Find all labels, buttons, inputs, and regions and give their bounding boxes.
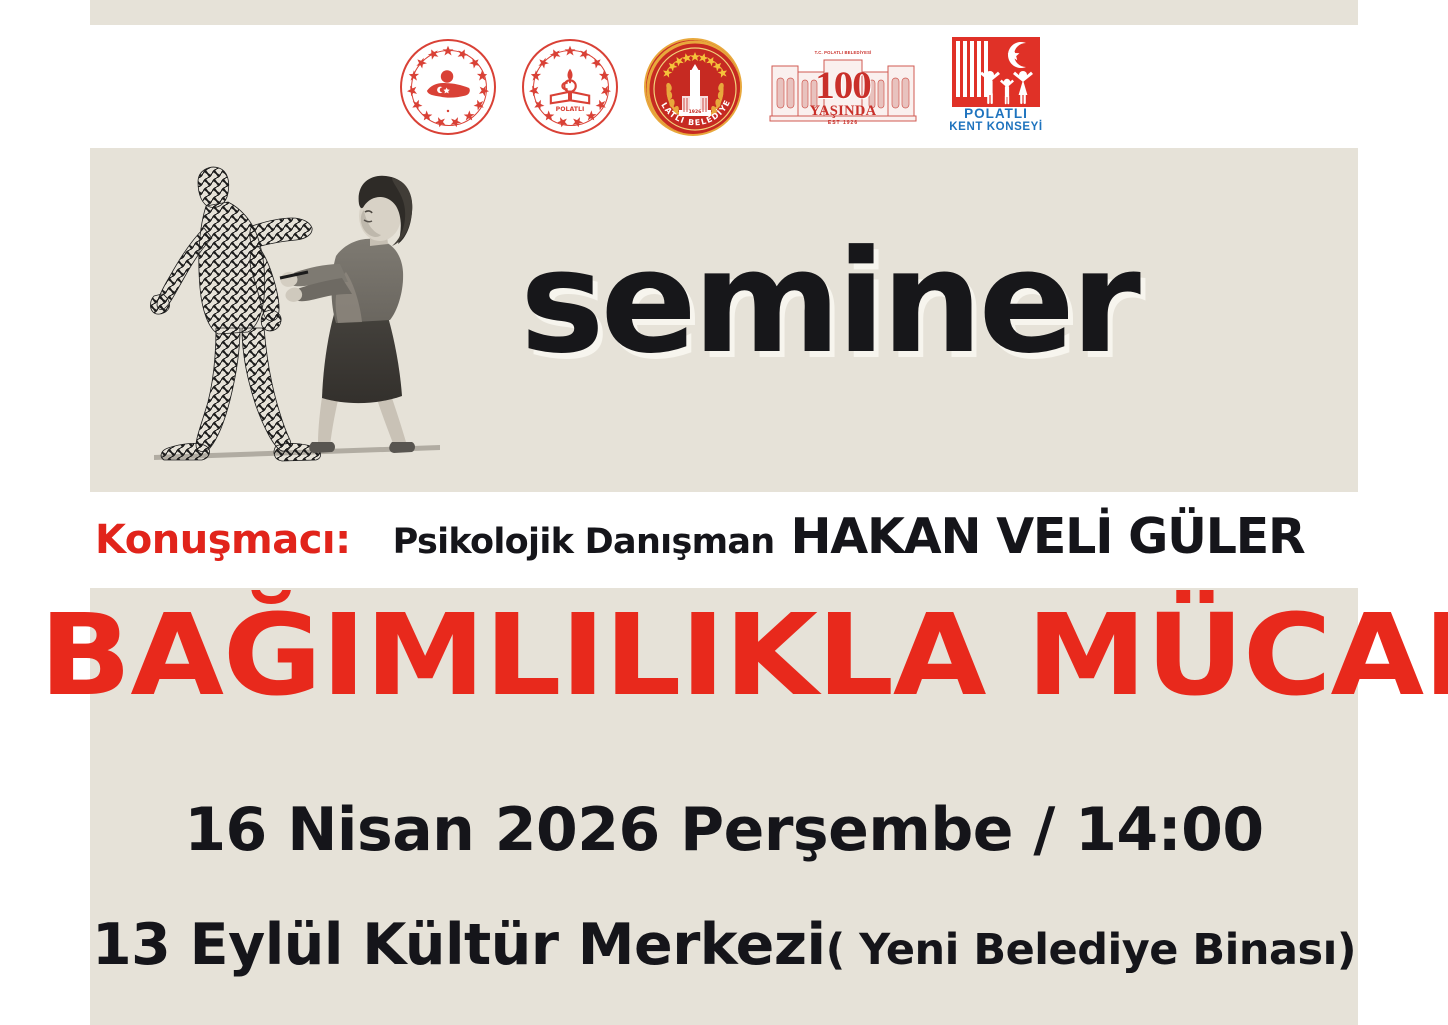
- milli-egitim-bakanligi-seal-logo: POLATLI: [522, 39, 618, 135]
- seminer-headline-wrap: seminer: [520, 232, 1220, 382]
- addiction-pull-illustration-icon: [140, 160, 470, 480]
- speaker-row: Konuşmacı: Psikolojik Danışman HAKAN VEL…: [95, 508, 1365, 576]
- kent-konseyi-line2: KENT KONSEYİ: [944, 121, 1048, 133]
- meb-seal-inner-ring: [533, 50, 609, 126]
- speaker-role: Psikolojik Danışman: [393, 522, 775, 562]
- kent-konseyi-label: POLATLI KENT KONSEYİ: [944, 107, 1048, 133]
- belediye-100-top-label: T.C. POLATLI BELEDİYESİ: [768, 50, 918, 56]
- logo-strip: POLATLI: [90, 28, 1358, 146]
- belediye-100-est: EST 1926: [768, 120, 918, 126]
- seminer-headline: seminer: [520, 232, 1220, 374]
- seal-inner-ring: [411, 50, 487, 126]
- polatli-kaymakamligi-seal-logo: [400, 39, 496, 135]
- belediye-100-number: 100: [768, 68, 918, 104]
- belediye-100-word: YAŞINDA: [768, 103, 918, 120]
- kaymakamlik-seal-icon: [400, 39, 496, 135]
- speaker-name: HAKAN VELİ GÜLER: [791, 508, 1305, 565]
- meb-seal-icon: POLATLI: [522, 39, 618, 135]
- polatli-belediyesi-seal-logo: 1926 POLATLI BELEDİYESİ: [644, 38, 742, 136]
- crescent-star-and-people-icon: [952, 37, 1040, 107]
- panel-top-band: [90, 0, 1358, 25]
- kent-konseyi-line1: POLATLI: [944, 107, 1048, 121]
- event-venue-sub: ( Yeni Belediye Binası): [826, 925, 1356, 975]
- polatli-belediyesi-100-yasinda-logo: T.C. POLATLI BELEDİYESİ 100 YAŞINDA EST …: [768, 44, 918, 130]
- svg-text:1926: 1926: [689, 109, 702, 115]
- poster-root: POLATLI: [0, 0, 1448, 1025]
- hero-artwork: [140, 160, 470, 480]
- kent-konseyi-emblem-icon: [952, 37, 1040, 107]
- event-venue-main: 13 Eylül Kültür Merkezi: [92, 912, 826, 978]
- event-date-time: 16 Nisan 2026 Perşembe / 14:00: [90, 795, 1358, 865]
- polatli-kent-konseyi-logo: POLATLI KENT KONSEYİ: [944, 37, 1048, 137]
- speaker-label: Konuşmacı:: [95, 517, 351, 563]
- poster-main-title: BAĞIMLILIKLA MÜCADELE: [39, 600, 1408, 712]
- belediye-seal-art: 1926 POLATLI BELEDİYESİ: [646, 40, 742, 136]
- event-venue: 13 Eylül Kültür Merkezi( Yeni Belediye B…: [90, 912, 1358, 978]
- belediye-seal-icon: 1926 POLATLI BELEDİYESİ: [644, 38, 742, 136]
